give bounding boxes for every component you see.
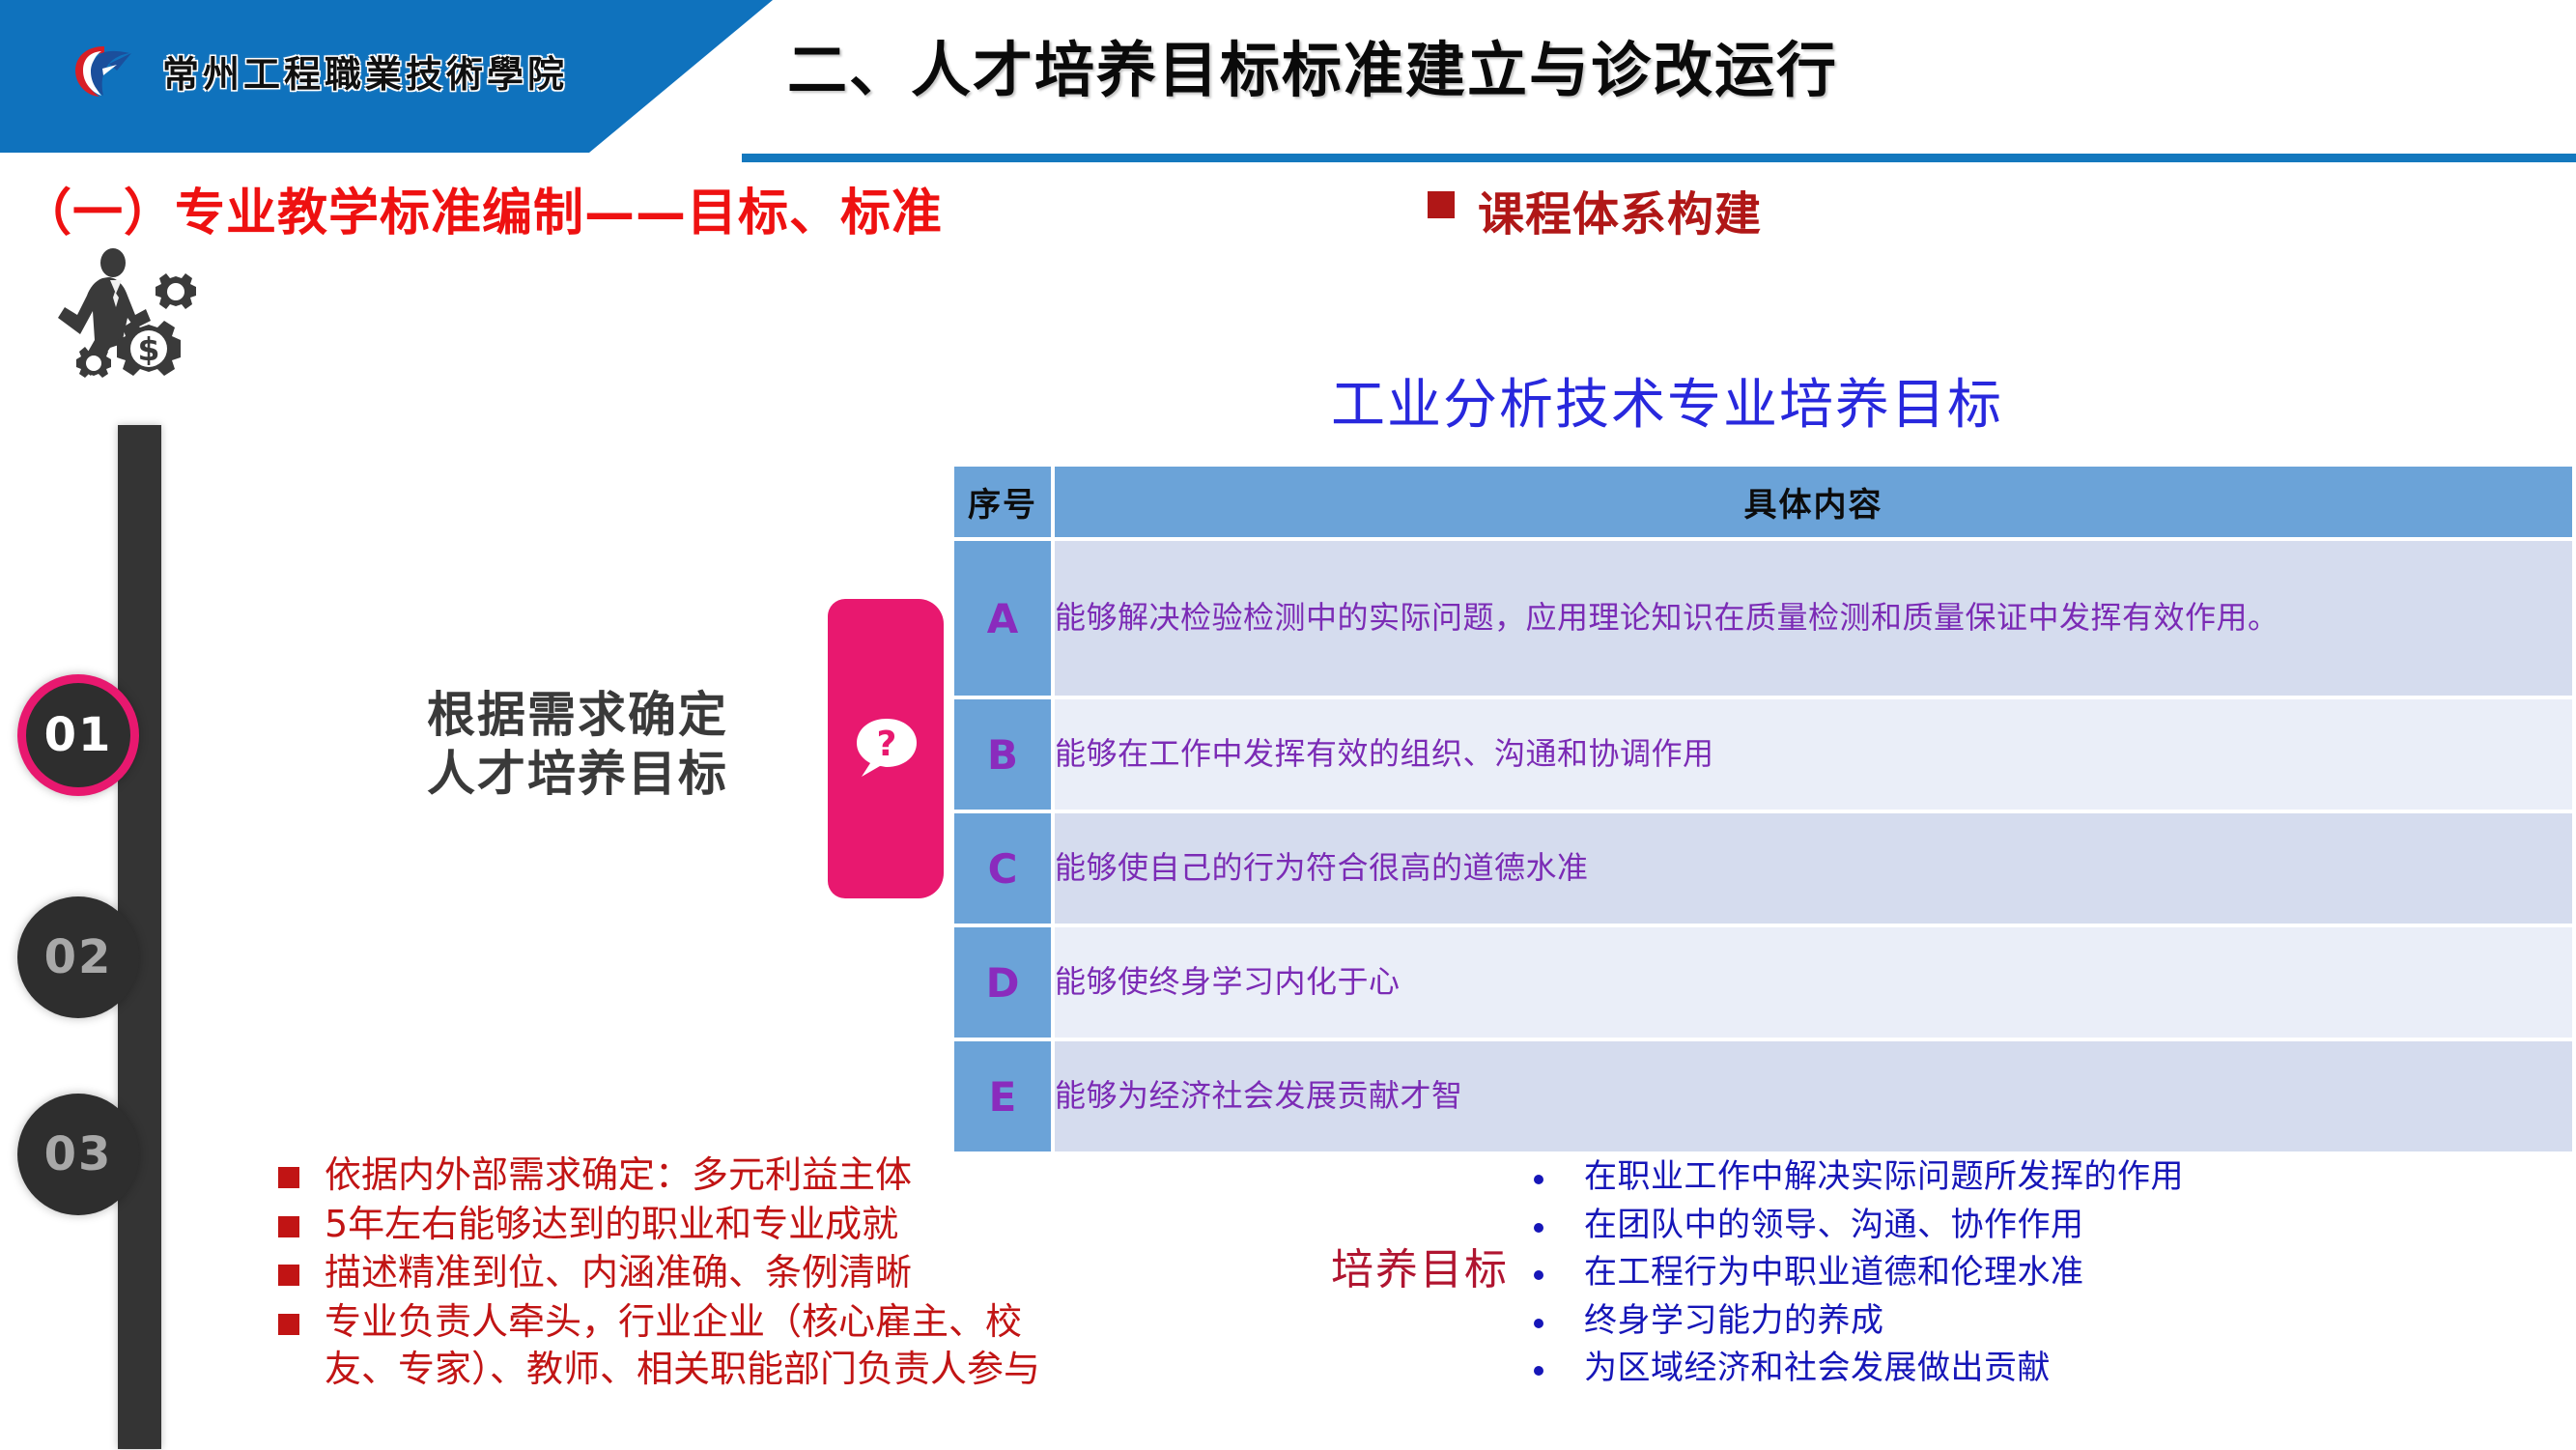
slide-canvas: 常州工程職業技術學院 二、人才培养目标标准建立与诊改运行 （一）专业教学标准编制…	[0, 0, 2576, 1450]
row-content: 能够在工作中发挥有效的组织、沟通和协调作用	[1055, 699, 2576, 813]
section-subtitle: （一）专业教学标准编制——目标、标准	[21, 172, 943, 244]
list-item: 在团队中的领导、沟通、协作作用	[1534, 1204, 2500, 1248]
square-bullet-icon	[278, 1216, 299, 1237]
list-item-label: 终身学习能力的养成	[1584, 1299, 1884, 1344]
round-bullet-icon	[1534, 1175, 1543, 1184]
svg-text:?: ?	[877, 725, 897, 764]
row-letter: E	[954, 1041, 1055, 1155]
table-row: C 能够使自己的行为符合很高的道德水准	[954, 813, 2576, 927]
table-header-row: 序号 具体内容	[954, 467, 2576, 541]
question-speech-bubble-icon: ?	[850, 713, 921, 784]
table-row: B 能够在工作中发挥有效的组织、沟通和协调作用	[954, 699, 2576, 813]
list-item-label: 在团队中的领导、沟通、协作作用	[1584, 1204, 2084, 1248]
timeline-node-01[interactable]: 01	[17, 674, 139, 796]
svg-text:$: $	[138, 330, 160, 368]
list-item: 描述精准到位、内涵准确、条例清晰	[278, 1249, 1061, 1296]
list-item: 终身学习能力的养成	[1534, 1299, 2500, 1344]
requirements-list: 依据内外部需求确定：多元利益主体 5年左右能够达到的职业和专业成就 描述精准到位…	[278, 1151, 1061, 1394]
businessman-on-gears-icon: $	[39, 247, 241, 441]
goals-table: 序号 具体内容 A 能够解决检验检测中的实际问题，应用理论知识在质量检测和质量保…	[954, 467, 2576, 1155]
list-item-label: 5年左右能够达到的职业和专业成就	[325, 1201, 898, 1248]
timeline-node-03[interactable]: 03	[17, 1094, 139, 1215]
table-row: D 能够使终身学习内化于心	[954, 927, 2576, 1041]
goals-list: 在职业工作中解决实际问题所发挥的作用 在团队中的领导、沟通、协作作用 在工程行为…	[1534, 1155, 2500, 1395]
row-content: 能够解决检验检测中的实际问题，应用理论知识在质量检测和质量保证中发挥有效作用。	[1055, 541, 2576, 699]
list-item: 在职业工作中解决实际问题所发挥的作用	[1534, 1155, 2500, 1200]
row-content: 能够为经济社会发展贡献才智	[1055, 1041, 2576, 1155]
row-letter: C	[954, 813, 1055, 927]
square-bullet-icon	[278, 1314, 299, 1335]
row-letter: A	[954, 541, 1055, 699]
step-label-line2: 人才培养目标	[355, 745, 800, 804]
row-letter: D	[954, 927, 1055, 1041]
list-item-label: 描述精准到位、内涵准确、条例清晰	[325, 1249, 912, 1296]
swoosh-shield-logo-icon	[70, 41, 145, 100]
logo-text: 常州工程職業技術學院	[162, 44, 568, 98]
list-item: 5年左右能够达到的职业和专业成就	[278, 1201, 1061, 1248]
goals-label: 培养目标	[1331, 1235, 1509, 1296]
list-item-label: 依据内外部需求确定：多元利益主体	[325, 1151, 912, 1199]
header-rule	[742, 154, 2576, 162]
table-title: 工业分析技术专业培养目标	[1331, 361, 2003, 440]
list-item-label: 在职业工作中解决实际问题所发挥的作用	[1584, 1155, 2184, 1200]
round-bullet-icon	[1534, 1319, 1543, 1328]
round-bullet-icon	[1534, 1270, 1543, 1280]
row-content: 能够使终身学习内化于心	[1055, 927, 2576, 1041]
list-item: 在工程行为中职业道德和伦理水准	[1534, 1251, 2500, 1295]
table-row: A 能够解决检验检测中的实际问题，应用理论知识在质量检测和质量保证中发挥有效作用…	[954, 541, 2576, 699]
header-logo: 常州工程職業技術學院	[70, 41, 568, 100]
square-bullet-icon	[278, 1265, 299, 1286]
list-item: 为区域经济和社会发展做出贡献	[1534, 1347, 2500, 1391]
list-item-label: 专业负责人牵头，行业企业（核心雇主、校友、专家）、教师、相关职能部门负责人参与	[325, 1298, 1061, 1392]
square-bullet-icon	[1428, 191, 1455, 218]
square-bullet-icon	[278, 1167, 299, 1188]
section-subtopic: 课程体系构建	[1478, 176, 1762, 243]
step-label: 根据需求确定 人才培养目标	[355, 686, 800, 804]
list-item: 依据内外部需求确定：多元利益主体	[278, 1151, 1061, 1199]
column-header-content: 具体内容	[1055, 467, 2576, 541]
list-item-label: 在工程行为中职业道德和伦理水准	[1584, 1251, 2084, 1295]
round-bullet-icon	[1534, 1223, 1543, 1233]
row-letter: B	[954, 699, 1055, 813]
list-item-label: 为区域经济和社会发展做出贡献	[1584, 1347, 2051, 1391]
timeline-node-02[interactable]: 02	[17, 896, 139, 1018]
table-row: E 能够为经济社会发展贡献才智	[954, 1041, 2576, 1155]
question-badge: ?	[828, 599, 944, 898]
page-title: 二、人才培养目标标准建立与诊改运行	[787, 21, 1838, 108]
step-label-line1: 根据需求确定	[355, 686, 800, 745]
round-bullet-icon	[1534, 1366, 1543, 1376]
row-content: 能够使自己的行为符合很高的道德水准	[1055, 813, 2576, 927]
list-item: 专业负责人牵头，行业企业（核心雇主、校友、专家）、教师、相关职能部门负责人参与	[278, 1298, 1061, 1392]
column-header-index: 序号	[954, 467, 1055, 541]
